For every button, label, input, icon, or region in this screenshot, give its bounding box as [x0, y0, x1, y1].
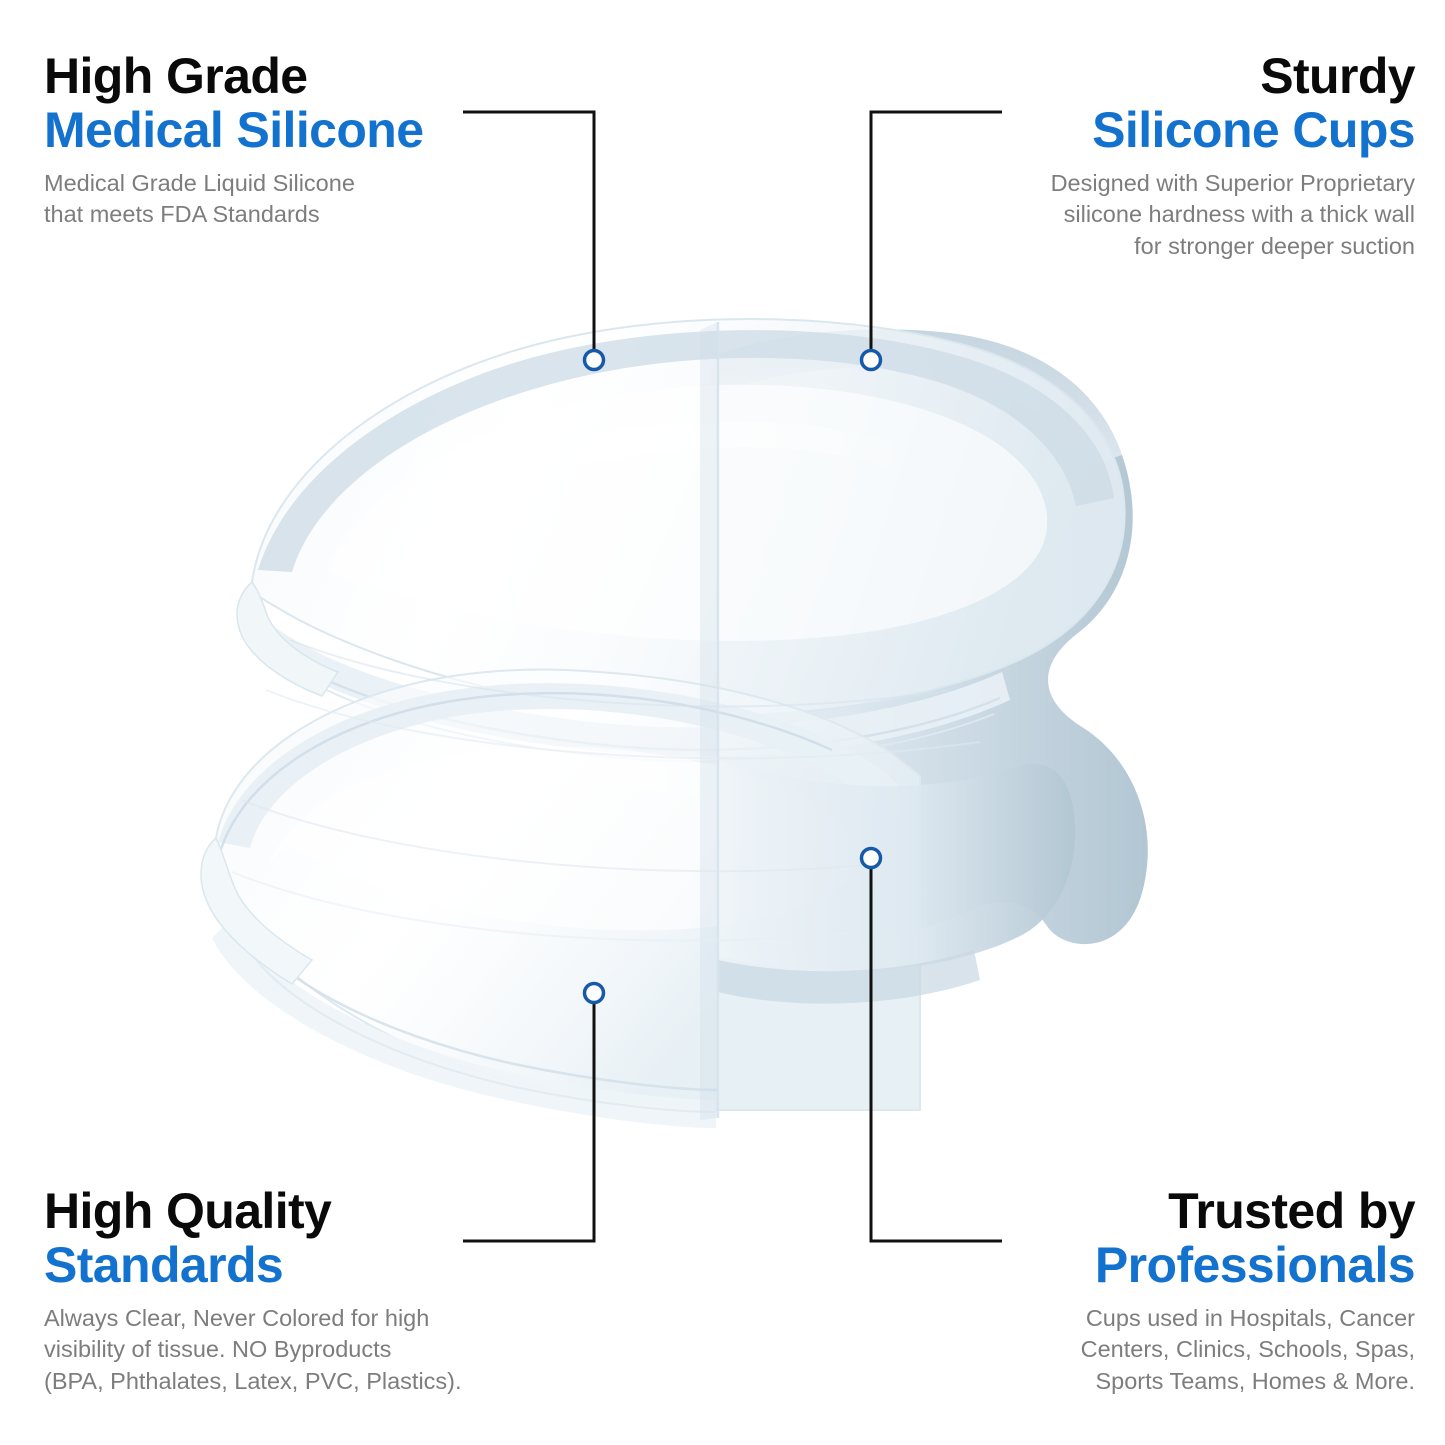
callout-headline-accent: Professionals: [885, 1237, 1415, 1293]
product-tinted-lower: [718, 760, 1075, 1004]
product-center-seam: [700, 322, 718, 1120]
callout-headline-accent: Silicone Cups: [885, 102, 1415, 158]
upper-cup: [237, 319, 1125, 761]
callout-headline-primary: High Grade: [44, 50, 574, 102]
callout-headline-primary: High Quality: [44, 1185, 574, 1237]
callout-headline-primary: Sturdy: [885, 50, 1415, 102]
callout-dot-bottom-right: [862, 849, 881, 868]
lower-cup: [201, 669, 920, 1128]
product-infographic: High Grade Medical Silicone Medical Grad…: [0, 0, 1445, 1445]
callout-headline-primary: Trusted by: [885, 1185, 1415, 1237]
callout-subcopy: Cups used in Hospitals, Cancer Centers, …: [885, 1303, 1415, 1397]
callout-sturdy-silicone-cups: Sturdy Silicone Cups Designed with Super…: [885, 50, 1415, 262]
leader-trusted-by-professionals: [862, 849, 1003, 1242]
callout-dot-top-left: [585, 351, 604, 370]
callout-headline-accent: Standards: [44, 1237, 574, 1293]
callout-subcopy: Always Clear, Never Colored for high vis…: [44, 1303, 574, 1397]
callout-high-quality-standards: High Quality Standards Always Clear, Nev…: [44, 1185, 574, 1397]
callout-trusted-by-professionals: Trusted by Professionals Cups used in Ho…: [885, 1185, 1415, 1397]
product-wall-lines: [232, 640, 980, 941]
callout-high-grade-medical-silicone: High Grade Medical Silicone Medical Grad…: [44, 50, 574, 231]
callout-subcopy: Designed with Superior Proprietary silic…: [885, 168, 1415, 262]
callout-headline-accent: Medical Silicone: [44, 102, 574, 158]
callout-dot-top-right: [862, 351, 881, 370]
callout-dot-bottom-left: [585, 984, 604, 1003]
callout-subcopy: Medical Grade Liquid Silicone that meets…: [44, 168, 574, 231]
product-tinted-half: [470, 329, 1148, 951]
